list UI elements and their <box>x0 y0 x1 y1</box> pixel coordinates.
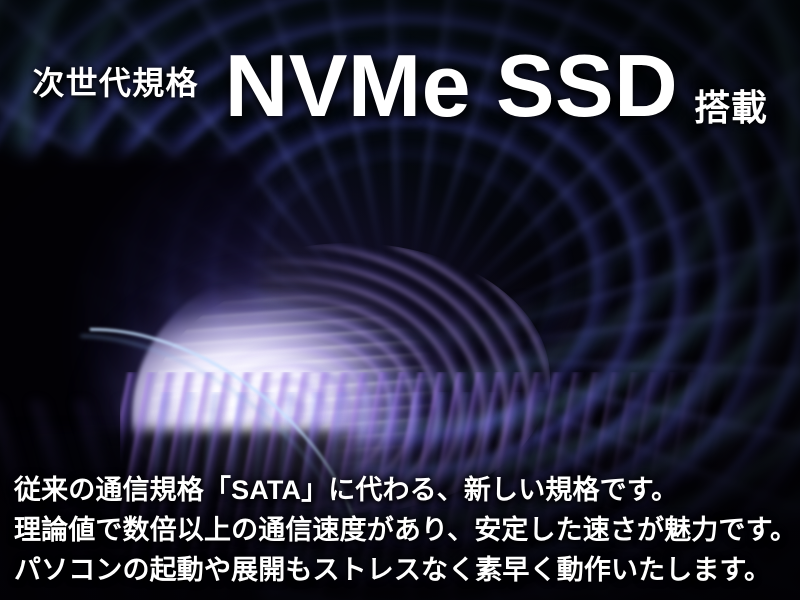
caption-line-3: パソコンの起動や展開もストレスなく素早く動作いたします。 <box>14 550 786 590</box>
tunnel-mouth-light <box>132 262 452 492</box>
headline-kicker: 次世代規格 <box>32 58 198 104</box>
caption-line-1: 従来の通信規格「SATA」に代わる、新しい規格です。 <box>14 470 786 510</box>
nvme-ssd-promo-banner: 次世代規格 NVMe SSD 搭載 従来の通信規格「SATA」に代わる、新しい規… <box>0 0 800 600</box>
headline-suffix: 搭載 <box>694 79 767 131</box>
headline-group: 次世代規格 NVMe SSD 搭載 <box>0 42 800 130</box>
caption-line-2: 理論値で数倍以上の通信速度があり、安定した速さが魅力です。 <box>14 510 786 550</box>
caption-group: 従来の通信規格「SATA」に代わる、新しい規格です。 理論値で数倍以上の通信速度… <box>0 470 800 590</box>
tunnel-mouth-speed-streaks <box>150 275 480 480</box>
headline-brand: NVMe SSD <box>225 42 678 130</box>
